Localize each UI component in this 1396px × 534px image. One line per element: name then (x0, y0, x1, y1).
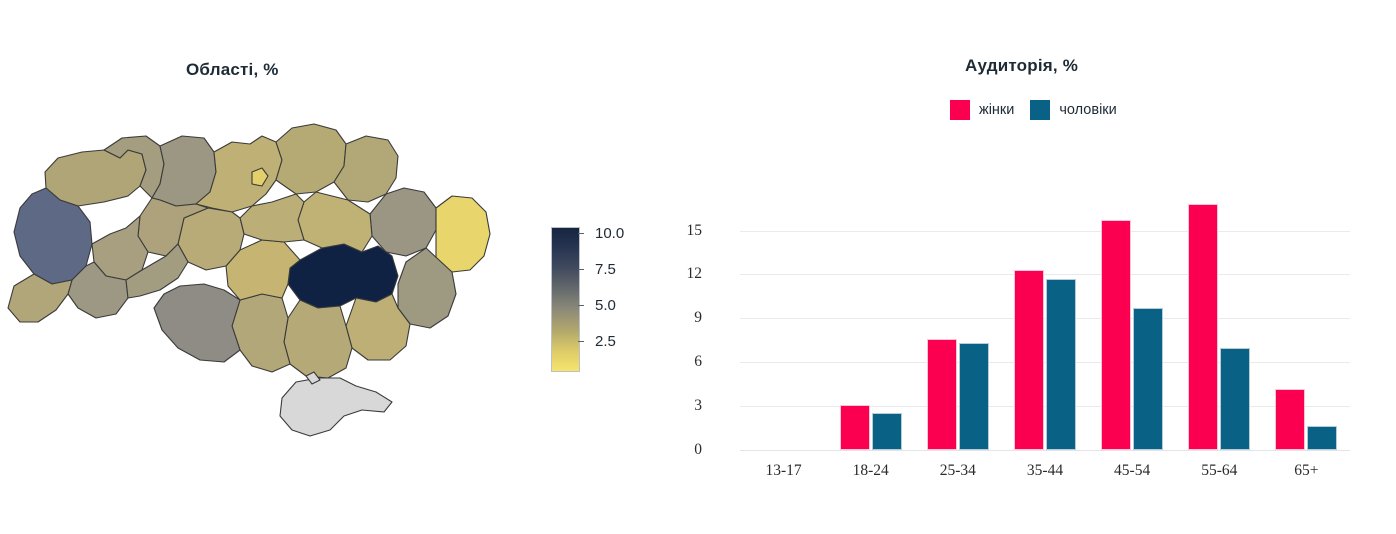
colorbar-label-7-5: 7.5 (595, 261, 616, 278)
colorbar-tick-7-5 (578, 269, 584, 270)
legend-swatch-male (1030, 100, 1050, 120)
colorbar-label-5: 5.0 (595, 297, 616, 314)
x-axis-tick-65+: 65+ (1294, 462, 1318, 480)
bar-18-24-жінки[interactable] (840, 405, 870, 450)
x-axis-tick-55-64: 55-64 (1201, 462, 1237, 480)
map-region-mykolaiv[interactable] (232, 294, 290, 372)
colorbar-label-2-5: 2.5 (595, 333, 616, 350)
map-colorbar: 10.0 7.5 5.0 2.5 (551, 227, 661, 372)
colorbar-tick-5 (578, 305, 584, 306)
y-axis-tick-15: 15 (662, 222, 702, 240)
map-region-kherson[interactable] (284, 300, 352, 378)
legend-item-female[interactable]: жінки (950, 100, 1014, 120)
chart-title: Аудиторія, % (965, 56, 1078, 76)
bar-55-64-жінки[interactable] (1188, 204, 1218, 450)
legend-label-female: жінки (979, 102, 1014, 118)
bar-35-44-жінки[interactable] (1014, 270, 1044, 450)
y-axis-tick-9: 9 (662, 309, 702, 327)
bar-25-34-жінки[interactable] (927, 339, 957, 450)
x-axis-tick-13-17: 13-17 (765, 462, 801, 480)
chart-legend: жінки чоловіки (950, 100, 1117, 120)
map-region-crimea[interactable] (280, 378, 392, 436)
gridline-0 (740, 450, 1350, 451)
x-axis-tick-25-34: 25-34 (940, 462, 976, 480)
legend-label-male: чоловіки (1059, 102, 1116, 118)
gridline-15 (740, 231, 1350, 232)
x-axis-tick-45-54: 45-54 (1114, 462, 1150, 480)
bar-45-54-жінки[interactable] (1101, 220, 1131, 450)
map-region-kharkiv[interactable] (370, 188, 436, 256)
legend-item-male[interactable]: чоловіки (1030, 100, 1116, 120)
map-region-dnipropetrovsk[interactable] (288, 244, 398, 308)
colorbar-gradient (551, 227, 580, 372)
gridline-3 (740, 406, 1350, 407)
legend-swatch-female (950, 100, 970, 120)
gridline-9 (740, 318, 1350, 319)
colorbar-tick-10 (578, 233, 584, 234)
map-panel: Області, % (0, 0, 660, 534)
bar-65+-чоловіки[interactable] (1307, 426, 1337, 450)
bar-35-44-чоловіки[interactable] (1046, 279, 1076, 450)
map-region-volyn[interactable] (45, 150, 146, 206)
y-axis-tick-0: 0 (662, 441, 702, 459)
x-axis-tick-35-44: 35-44 (1027, 462, 1063, 480)
map-title: Області, % (186, 60, 279, 80)
gridline-12 (740, 274, 1350, 275)
gridline-6 (740, 362, 1350, 363)
ukraine-choropleth-map (0, 110, 560, 470)
bar-55-64-чоловіки[interactable] (1220, 348, 1250, 450)
map-region-odesa[interactable] (154, 284, 240, 362)
y-axis-tick-12: 12 (662, 265, 702, 283)
y-axis-tick-3: 3 (662, 397, 702, 415)
bar-18-24-чоловіки[interactable] (872, 413, 902, 450)
map-region-luhansk[interactable] (436, 196, 490, 272)
x-axis-tick-18-24: 18-24 (853, 462, 889, 480)
colorbar-tick-2-5 (578, 341, 584, 342)
bar-chart: 03691215 13-1718-2425-3435-4445-5455-646… (700, 150, 1380, 460)
bar-25-34-чоловіки[interactable] (959, 343, 989, 450)
y-axis-tick-6: 6 (662, 353, 702, 371)
bar-chart-plot-area: 03691215 13-1718-2425-3435-4445-5455-646… (740, 194, 1350, 450)
colorbar-label-10: 10.0 (595, 225, 624, 242)
bar-45-54-чоловіки[interactable] (1133, 308, 1163, 450)
bar-65+-жінки[interactable] (1275, 389, 1305, 450)
